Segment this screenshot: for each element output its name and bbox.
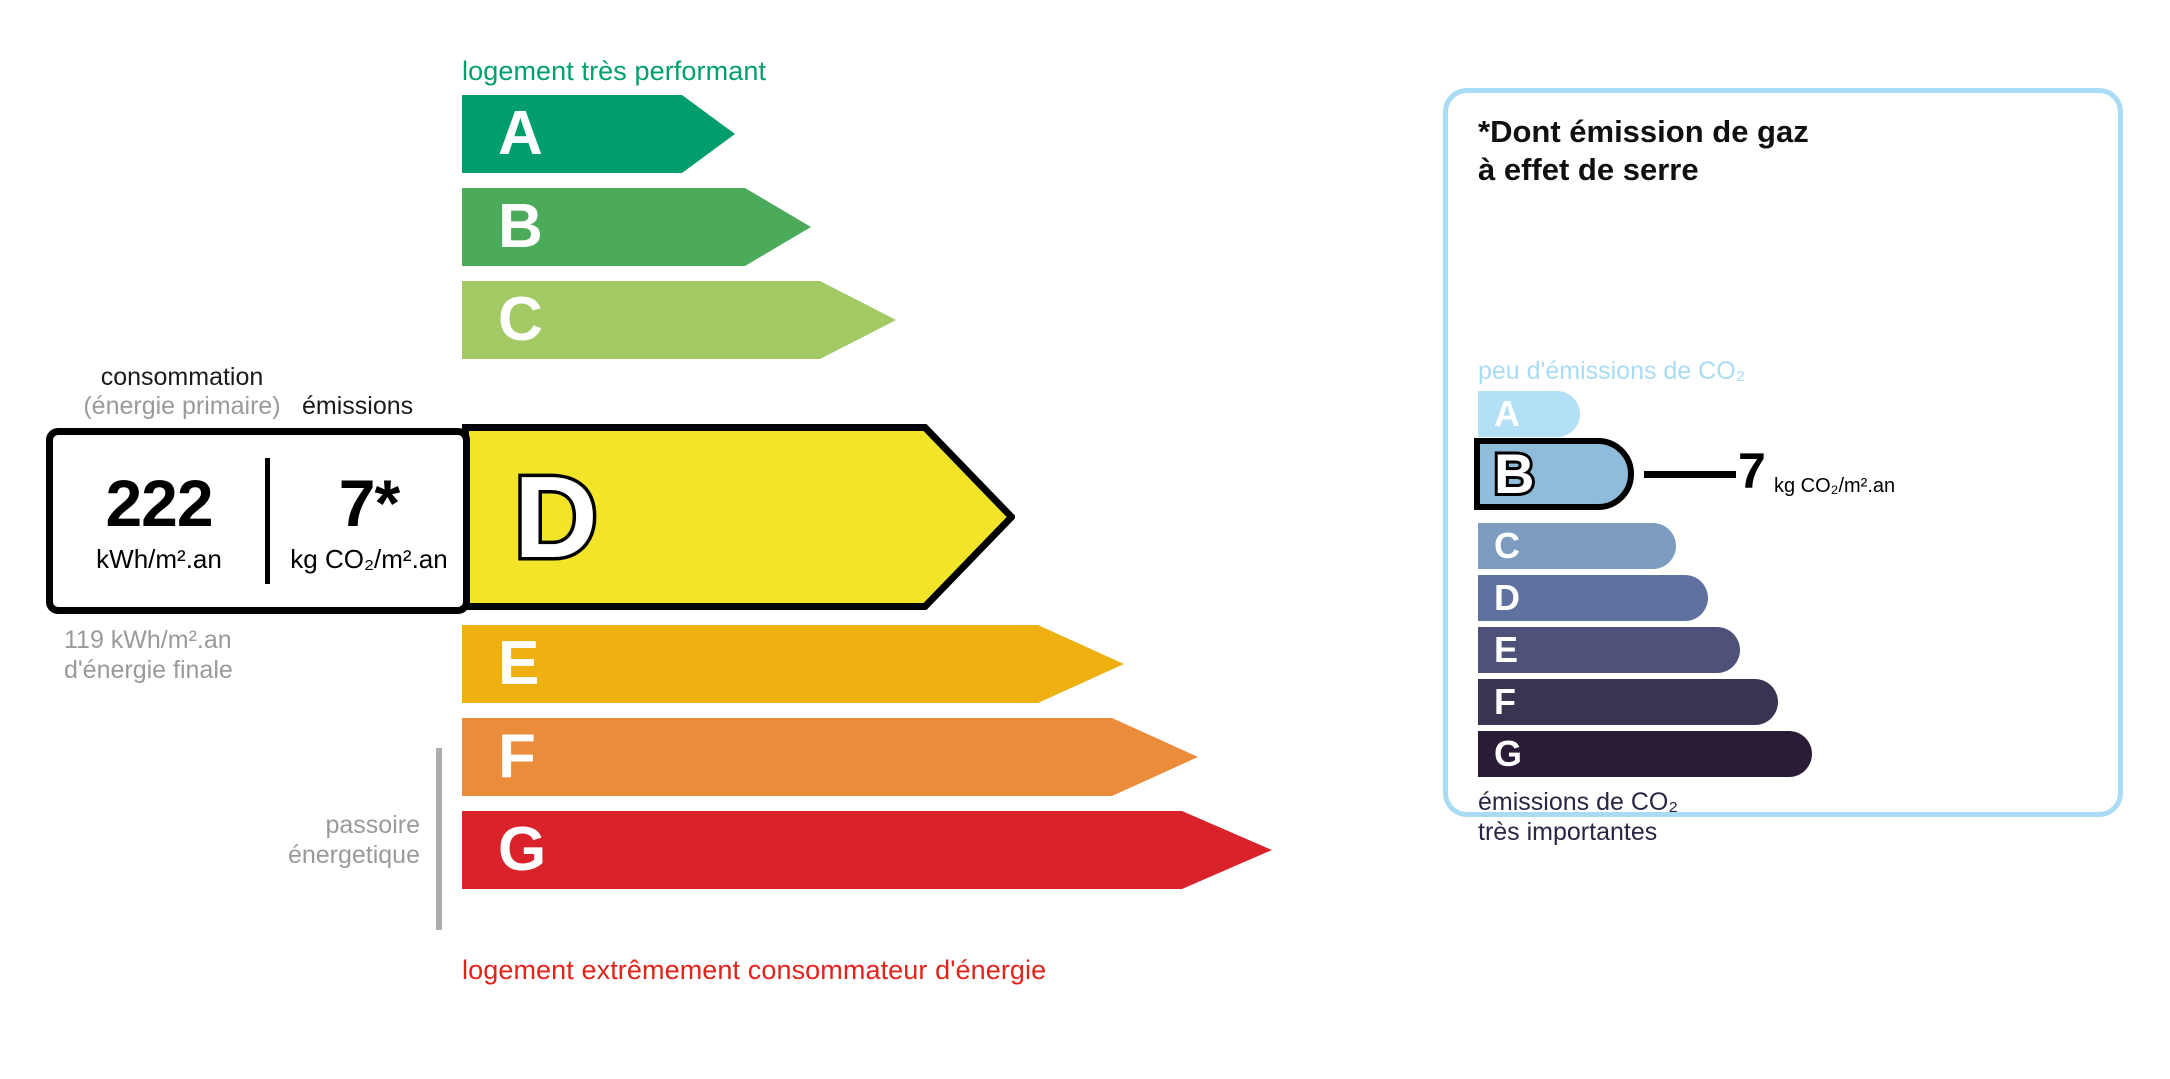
emission-unit: kg CO₂/m².an [270,546,468,572]
co2-class-e: E [1478,627,1740,673]
co2-class-letter-d: D [1494,580,1520,616]
energy-class-arrow-e [462,625,1124,703]
co2-bottom-caption: émissions de CO₂ très importantes [1478,787,1678,847]
primary-energy-unit: kWh/m².an [53,546,265,572]
primary-energy-value: 222 [53,470,265,536]
co2-class-d: D [1478,575,1708,621]
primary-energy-cell: 222 kWh/m².an [53,470,265,572]
energy-class-f: F [462,718,1198,796]
energy-class-b: B [462,188,811,266]
final-energy-line2: d'énergie finale [64,655,233,685]
energy-class-letter-f: F [498,726,536,788]
energy-class-arrow-f [462,718,1198,796]
passoire-label-line2: énergetique [200,840,420,870]
energy-class-letter-c: C [498,289,543,351]
energy-class-letter-e: E [498,633,539,695]
energy-class-letter-b: B [498,196,543,258]
co2-class-g: G [1478,731,1812,777]
energy-class-g: G [462,811,1272,889]
energy-class-d: D [462,424,1015,610]
dpe-energy-widget: logement très performant consommation (é… [0,0,1400,1079]
energy-bottom-caption: logement extrêmement consommateur d'éner… [462,955,1046,986]
co2-panel-title: *Dont émission de gaz à effet de serre [1478,113,1809,189]
co2-value: 7 [1738,446,1766,496]
consumption-header-line2: (énergie primaire) [62,392,302,421]
energy-class-e: E [462,625,1124,703]
co2-class-b: B [1474,438,1634,510]
energy-top-caption: logement très performant [462,56,766,87]
final-energy-line1: 119 kWh/m².an [64,625,233,655]
energy-class-letter-a: A [498,103,543,165]
emission-cell: 7* kg CO₂/m².an [270,470,468,572]
co2-class-c: C [1478,523,1676,569]
co2-class-letter-b: B [1494,446,1534,502]
co2-bottom-caption-line1: émissions de CO₂ [1478,787,1678,817]
co2-leader-line [1644,471,1736,478]
co2-class-letter-c: C [1494,528,1520,564]
consumption-header: consommation (énergie primaire) [62,363,302,421]
co2-title-line1: *Dont émission de gaz [1478,113,1809,151]
co2-class-letter-a: A [1494,396,1520,432]
energy-class-arrow-g [462,811,1272,889]
emissions-header: émissions [302,392,413,421]
co2-bottom-caption-line2: très importantes [1478,817,1678,847]
final-energy-note: 119 kWh/m².an d'énergie finale [64,625,233,685]
passoire-label: passoire énergetique [200,810,420,870]
energy-class-c: C [462,281,896,359]
consumption-header-line1: consommation [101,363,264,391]
energy-class-letter-d: D [514,459,598,575]
co2-class-letter-g: G [1494,736,1522,772]
energy-class-letter-g: G [498,819,546,881]
passoire-label-line1: passoire [200,810,420,840]
co2-class-letter-f: F [1494,684,1516,720]
co2-class-a: A [1478,391,1580,437]
energy-class-a: A [462,95,735,173]
co2-class-letter-e: E [1494,632,1518,668]
co2-top-caption: peu d'émissions de CO₂ [1478,357,1745,386]
emission-value: 7* [270,470,468,536]
co2-class-f: F [1478,679,1778,725]
co2-panel: *Dont émission de gaz à effet de serre p… [1443,88,2123,817]
passoire-bracket [436,748,442,930]
co2-title-line2: à effet de serre [1478,151,1809,189]
value-box: 222 kWh/m².an 7* kg CO₂/m².an [46,428,470,614]
co2-value-unit: kg CO₂/m².an [1774,476,1895,496]
